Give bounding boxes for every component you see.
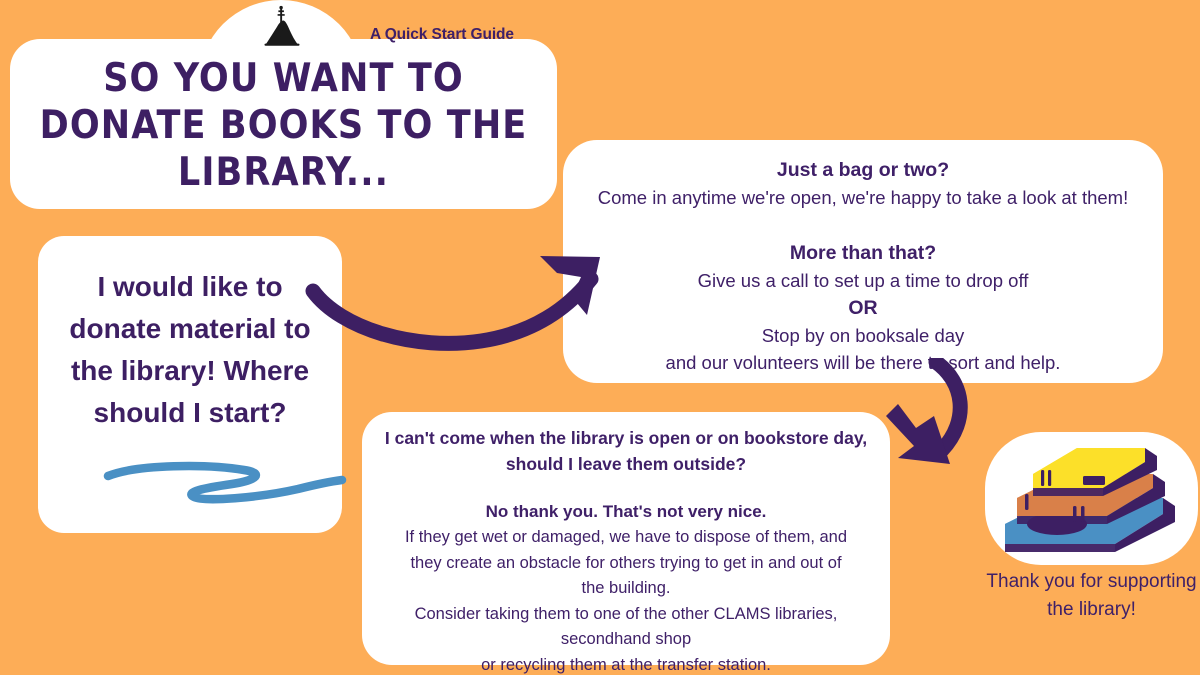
outside-question-card: I can't come when the library is open or… <box>362 412 890 665</box>
outside-card-answer-heading: No thank you. That's not very nice. <box>376 499 876 525</box>
title-card: SO YOU WANT TO DONATE BOOKS TO THE LIBRA… <box>10 39 557 209</box>
answer-card-heading: OR <box>573 294 1153 322</box>
question-card-text: I would like to donate material to the l… <box>38 266 342 434</box>
outside-card-answer-line: the building. <box>376 576 876 602</box>
outside-card-answer-line: If they get wet or damaged, we have to d… <box>376 525 876 551</box>
answer-card-line: and our volunteers will be there to sort… <box>573 349 1153 376</box>
outside-card-answer-line: secondhand shop <box>376 627 876 653</box>
outside-card-answer-line: or recycling them at the transfer statio… <box>376 653 876 675</box>
outside-card-body: I can't come when the library is open or… <box>362 425 890 675</box>
answer-card: Just a bag or two?Come in anytime we're … <box>563 140 1163 383</box>
answer-card-line: Come in anytime we're open, we're happy … <box>573 184 1153 211</box>
blue-squiggle-underline-icon <box>98 458 348 506</box>
quick-start-guide-kicker: A Quick Start Guide <box>370 26 514 44</box>
thank-you-text: Thank you for supporting the library! <box>985 568 1198 624</box>
answer-card-body: Just a bag or two?Come in anytime we're … <box>563 156 1163 376</box>
page-title: SO YOU WANT TO DONATE BOOKS TO THE LIBRA… <box>10 55 557 196</box>
answer-card-heading: Just a bag or two? <box>573 156 1153 184</box>
answer-card-spacer <box>573 211 1153 239</box>
answer-card-line: Stop by on booksale day <box>573 322 1153 349</box>
outside-card-answer-line: they create an obstacle for others tryin… <box>376 551 876 577</box>
answer-card-heading: More than that? <box>573 239 1153 267</box>
stacked-books-illustration-icon <box>995 436 1190 562</box>
answer-card-line: Give us a call to set up a time to drop … <box>573 267 1153 294</box>
library-statue-logo-icon <box>263 5 301 47</box>
infographic-canvas: A Quick Start Guide SO YOU WANT TO DONAT… <box>0 0 1200 675</box>
outside-card-spacer <box>376 477 876 499</box>
outside-card-answer-lines: If they get wet or damaged, we have to d… <box>376 525 876 675</box>
question-card: I would like to donate material to the l… <box>38 236 342 533</box>
outside-card-answer-line: Consider taking them to one of the other… <box>376 602 876 628</box>
outside-card-question: I can't come when the library is open or… <box>376 425 876 477</box>
